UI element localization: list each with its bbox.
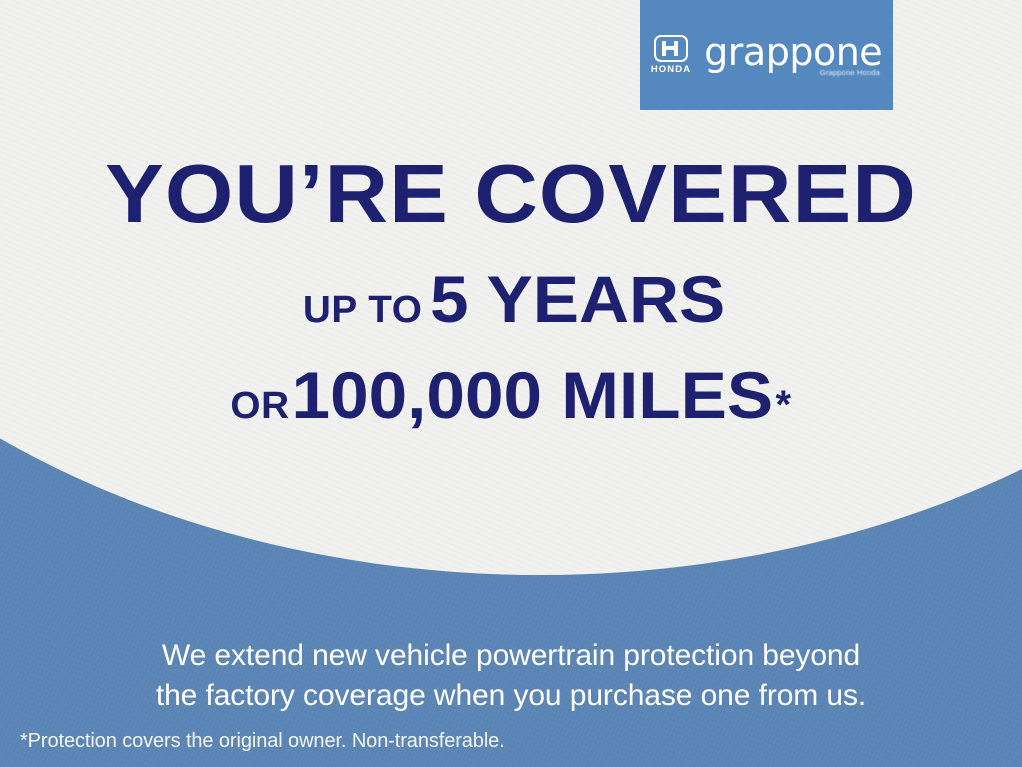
body-copy-line-2: the factory coverage when you purchase o… — [0, 676, 1022, 716]
promo-banner: HONDA grappone Grappone Honda YOU’RE COV… — [0, 0, 1022, 767]
headline-line-3-value: 100,000 MILES — [291, 362, 773, 428]
body-copy-line-1: We extend new vehicle powertrain protect… — [0, 636, 1022, 676]
disclaimer-text: *Protection covers the original owner. N… — [20, 730, 505, 753]
headline-line-3: OR 100,000 MILES* — [0, 362, 1022, 428]
headline-line-3-prefix: OR — [230, 387, 289, 425]
headline-asterisk: * — [776, 385, 792, 425]
headline-line-2-value: 5 YEARS — [430, 266, 725, 332]
headline-line-2: UP TO 5 YEARS — [0, 266, 1022, 332]
headline-line-1: YOU’RE COVERED — [0, 152, 1022, 235]
headline-line-2-prefix: UP TO — [303, 291, 423, 329]
headline-area: YOU’RE COVERED UP TO 5 YEARS OR 100,000 … — [0, 0, 1022, 500]
body-copy: We extend new vehicle powertrain protect… — [0, 636, 1022, 716]
